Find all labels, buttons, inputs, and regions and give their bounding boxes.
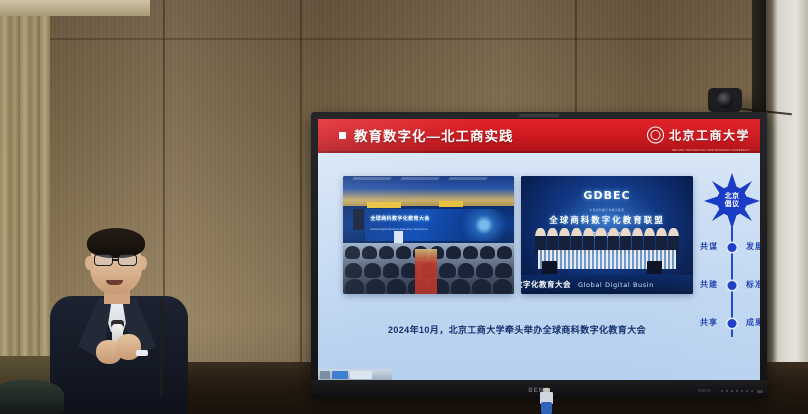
conference-hall-photo: 全球商科数字化教育大会 Global Digital Business Educ… (343, 176, 514, 294)
side-panel-right (766, 0, 808, 414)
center-label-line1: 北京 (725, 193, 740, 201)
curtain-rail (0, 0, 150, 16)
taskbar-item-1[interactable] (332, 371, 348, 379)
light-lens (717, 92, 733, 108)
display-indicator-dots (721, 390, 753, 392)
os-taskbar[interactable] (318, 369, 392, 380)
bottle-body (541, 402, 552, 414)
diagram-label-1-right: 发展 (746, 241, 760, 252)
ceiling-beam (448, 177, 487, 180)
eyeglasses-lens-right (118, 254, 137, 266)
eyeglasses-icon (94, 254, 113, 266)
stage-monitor-left (542, 261, 557, 274)
hall-aisle-carpet (415, 249, 437, 294)
ceiling-beam (352, 177, 391, 180)
diagram-node-2 (728, 281, 737, 290)
screenshot-scene: 教育数字化—北工商实践 北京工商大学 BEIJING TECHNOLOGY AN… (0, 0, 808, 414)
sunburst-icon: 北京 倡议 (704, 173, 760, 229)
hall-loudspeaker (353, 209, 363, 230)
hall-banner-left (367, 202, 401, 208)
gdbec-logo-subtitle: 全球商科数字化教育联盟 (589, 208, 624, 212)
beijing-initiative-diagram: 北京 倡议 共谋 发展 共建 标准 共享 成果 (700, 169, 760, 349)
university-seal-icon (647, 127, 664, 144)
header-bullet-icon (339, 132, 346, 139)
presenter-ear-left (85, 256, 94, 270)
display-bottom-bezel: BENQ INNO (311, 380, 767, 398)
university-logo: 北京工商大学 (647, 127, 750, 144)
slide-header-bar: 教育数字化—北工商实践 北京工商大学 BEIJING TECHNOLOGY AN… (318, 119, 760, 151)
display-screen[interactable]: 教育数字化—北工商实践 北京工商大学 BEIJING TECHNOLOGY AN… (318, 119, 760, 380)
water-bottle (540, 388, 553, 414)
hall-banner-right (439, 201, 463, 207)
taskbar-start-button[interactable] (320, 371, 330, 379)
wall-seam-horizontal (0, 38, 808, 40)
alliance-title: 全球商科数字化教育联盟 (549, 214, 665, 226)
strip-text-cn: 数字化教育大会 (521, 279, 571, 290)
ceiling-beam (400, 177, 439, 180)
stage-monitor-right (647, 261, 662, 274)
slide-caption: 2024年10月，北京工商大学牵头举办全球商科数字化教育大会 (318, 323, 760, 336)
strip-text-en: Global Digital Busin (578, 281, 654, 289)
window-curtain (0, 12, 50, 414)
hall-globe-graphic (456, 209, 507, 241)
floor-stand-pole (160, 300, 163, 396)
hall-stage-subtitle: Global Digital Business Education Confer… (370, 228, 428, 231)
diagram-label-1-left: 共谋 (700, 241, 718, 252)
display-brand-secondary: INNO (698, 388, 711, 393)
taskbar-item-2[interactable] (350, 371, 372, 379)
wall-seam-2 (300, 0, 302, 414)
diagram-node-1 (728, 243, 737, 252)
presenter-shirt-cuff (136, 350, 148, 356)
sunburst-center-label: 北京 倡议 (725, 193, 740, 209)
dark-bag (0, 380, 64, 414)
presenter-ear-right (138, 256, 147, 270)
display-top-notch (519, 114, 559, 117)
university-name: 北京工商大学 (669, 127, 750, 144)
interactive-display[interactable]: 教育数字化—北工商实践 北京工商大学 BEIJING TECHNOLOGY AN… (311, 112, 767, 398)
center-label-line2: 倡议 (725, 201, 740, 209)
alliance-launch-photo: GDBEC 全球商科数字化教育联盟 全球商科数字化教育联盟 正式成立 数字化教育… (521, 176, 693, 294)
eyeglasses-bridge (113, 259, 118, 261)
presenter-hand-right (116, 334, 141, 360)
diagram-label-2-right: 标准 (746, 279, 760, 290)
hall-stage-title: 全球商科数字化教育大会 (370, 215, 429, 222)
slide-caption-text: 2024年10月，北京工商大学牵头举办全球商科数字化教育大会 (388, 325, 646, 335)
alliance-bottom-strip: 数字化教育大会 Global Digital Busin (521, 275, 693, 294)
gdbec-logo: GDBEC (583, 189, 630, 202)
header-underline (318, 151, 760, 153)
display-ir-receiver (757, 390, 763, 393)
presenter-mouth (106, 280, 123, 285)
diagram-label-2-left: 共建 (700, 279, 718, 290)
slide-title: 教育数字化—北工商实践 (354, 125, 514, 145)
presenter (44, 228, 196, 414)
